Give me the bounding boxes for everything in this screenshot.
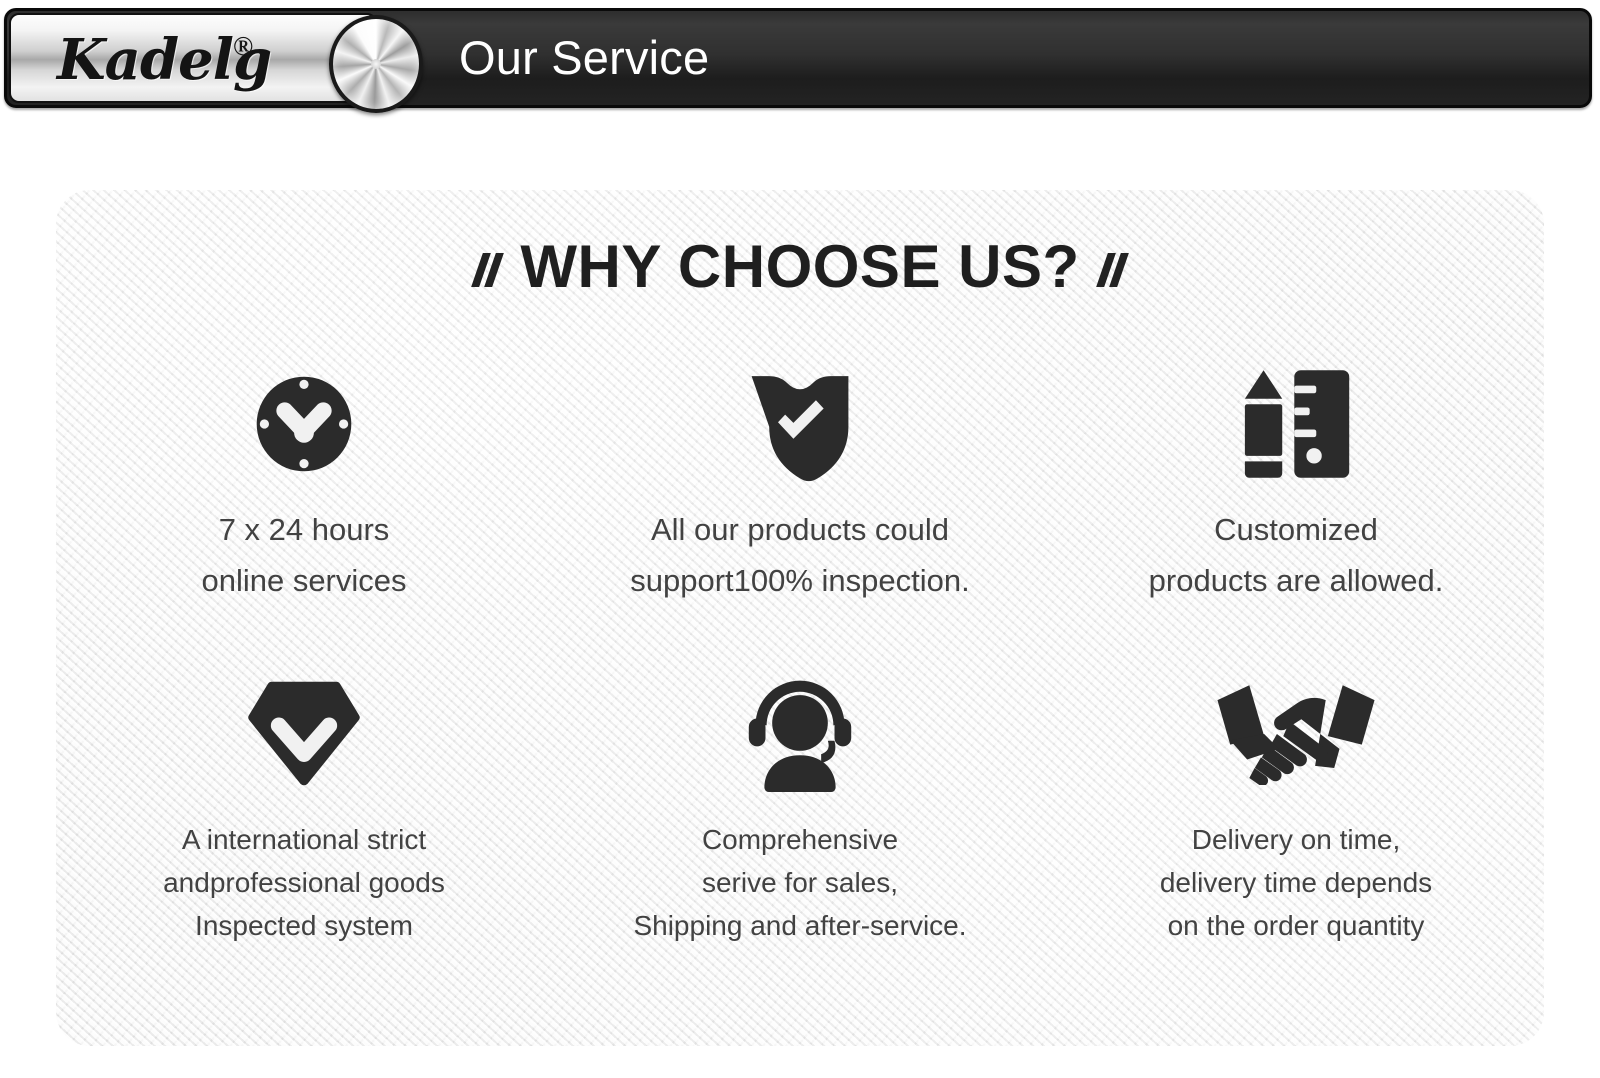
header-bar: Kadelg ® Our Service [4,8,1592,108]
feature-caption: Delivery on time, delivery time depends … [1160,818,1432,947]
feature-item-comprehensive-service: Comprehensive serive for sales, Shipping… [552,662,1048,966]
feature-item-online-services: 7 x 24 hours online services [56,358,552,662]
page-title: Our Service [459,11,709,105]
feature-item-inspected-system: A international strict andprofessional g… [56,662,552,966]
clock-icon [249,358,359,490]
pencil-ruler-icon [1239,358,1354,490]
section-title: WHY CHOOSE US? [520,232,1079,301]
feature-caption: 7 x 24 hours online services [201,504,406,606]
feature-item-customized: Customized products are allowed. [1048,358,1544,662]
feature-item-delivery: Delivery on time, delivery time depends … [1048,662,1544,966]
metal-disc-icon [329,15,423,113]
shield-check-icon [745,358,855,490]
brand-logo-panel[interactable]: Kadelg ® [9,13,377,103]
why-choose-us-card: WHY CHOOSE US? 7 x 24 hours online servi… [56,190,1544,1046]
feature-item-inspection: All our products could support100% inspe… [552,358,1048,662]
right-quote-mark-icon [1102,253,1123,287]
feature-caption: A international strict andprofessional g… [163,818,445,947]
feature-caption: All our products could support100% inspe… [630,504,970,606]
diamond-check-icon [245,662,363,804]
left-quote-mark-icon [477,253,498,287]
feature-grid: 7 x 24 hours online services All our pro… [56,358,1544,966]
handshake-icon [1215,662,1377,804]
section-title-row: WHY CHOOSE US? [56,232,1544,301]
headset-agent-icon [744,662,856,804]
feature-caption: Customized products are allowed. [1149,504,1444,606]
registered-trademark-icon: ® [233,31,253,62]
feature-caption: Comprehensive serive for sales, Shipping… [633,818,966,947]
